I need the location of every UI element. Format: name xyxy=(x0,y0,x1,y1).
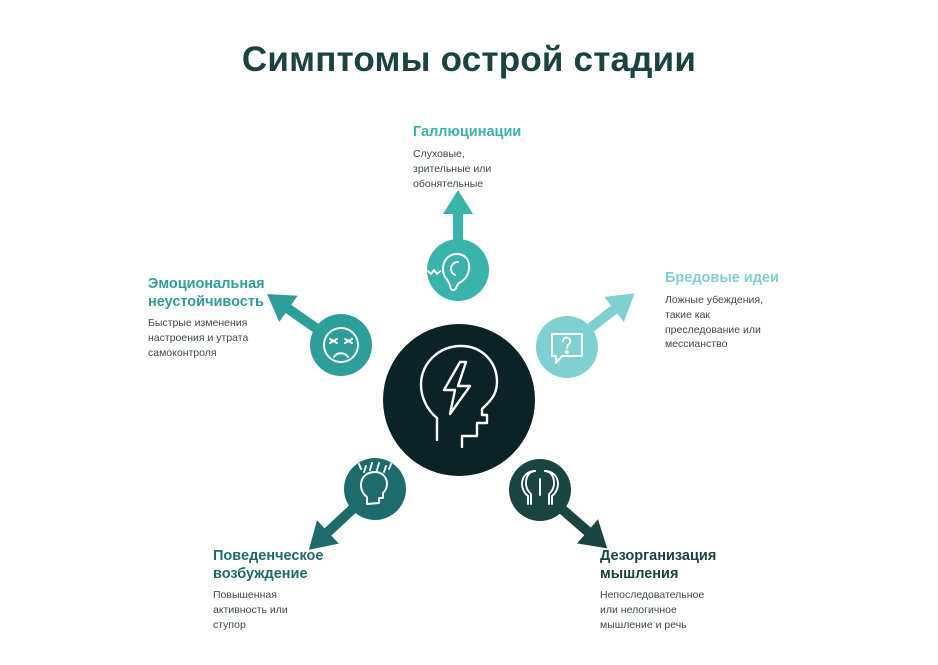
node-heading-hallucinations: Галлюцинации xyxy=(413,124,603,142)
node-circle-hallucinations[interactable] xyxy=(427,239,489,301)
node-body-delusions: Ложные убеждения, такие как преследовани… xyxy=(665,293,855,353)
node-heading-emotional: Эмоциональная неустойчивость xyxy=(148,276,328,311)
node-circle-behavioral[interactable] xyxy=(344,458,406,520)
node-text-disorganized: Дезорганизация мышления Непоследовательн… xyxy=(600,548,800,633)
infographic-canvas: Симптомы острой стадии xyxy=(0,0,938,665)
node-text-delusions: Бредовые идеи Ложные убеждения, такие ка… xyxy=(665,270,855,352)
node-body-hallucinations: Слуховые, зрительные или обонятельные xyxy=(413,147,603,192)
node-text-behavioral: Поведенческое возбуждение Повышенная акт… xyxy=(213,548,403,633)
node-body-behavioral: Повышенная активность или ступор xyxy=(213,588,403,633)
node-text-emotional: Эмоциональная неустойчивость Быстрые изм… xyxy=(148,276,328,361)
node-heading-delusions: Бредовые идеи xyxy=(665,270,855,288)
node-text-hallucinations: Галлюцинации Слуховые, зрительные или об… xyxy=(413,124,603,191)
node-body-emotional: Быстрые изменения настроения и утрата са… xyxy=(148,316,328,361)
node-body-disorganized: Непоследовательное или нелогичное мышлен… xyxy=(600,588,800,633)
node-heading-disorganized: Дезорганизация мышления xyxy=(600,548,800,583)
node-heading-behavioral: Поведенческое возбуждение xyxy=(213,548,403,583)
